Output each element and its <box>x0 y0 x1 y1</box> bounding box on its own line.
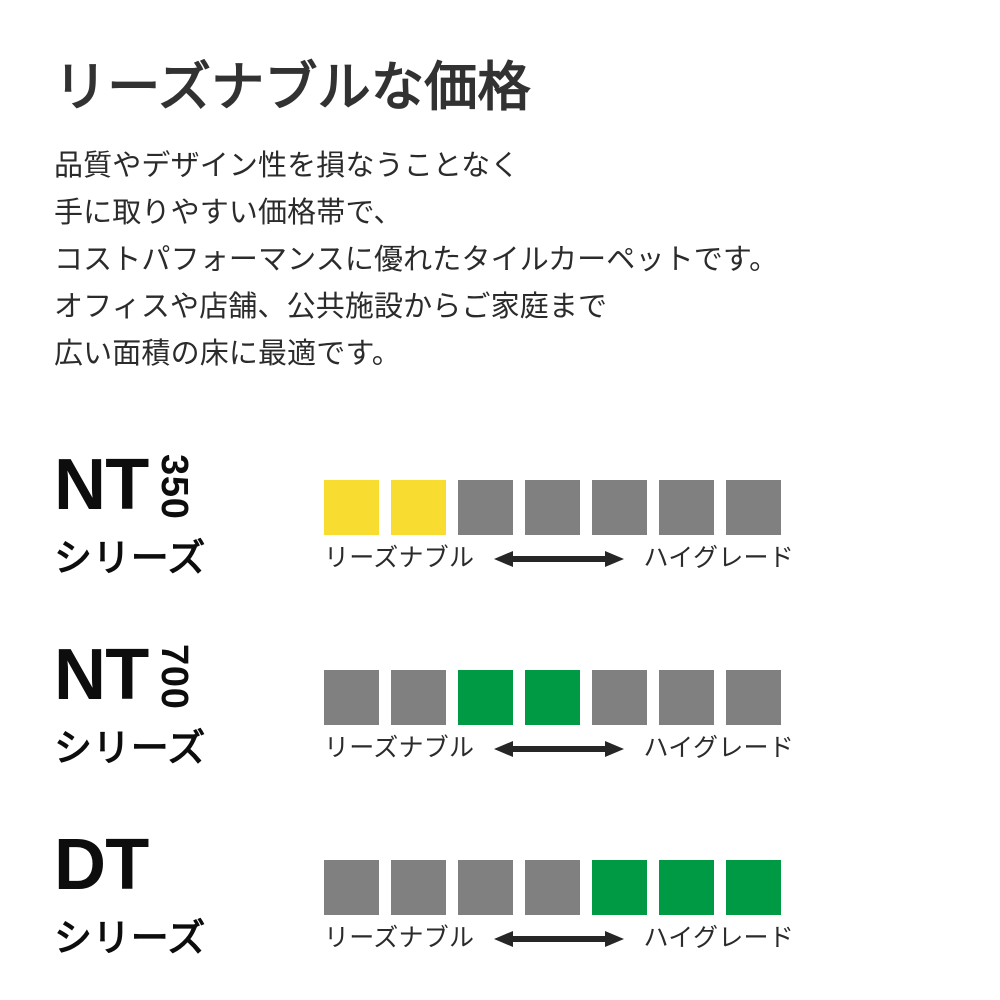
swatch <box>726 670 781 725</box>
scale-low-label: リーズナブル <box>324 926 474 951</box>
description-line: 品質やデザイン性を損なうことなく <box>54 143 954 190</box>
scale-high-label: ハイグレード <box>643 546 794 571</box>
swatch <box>324 670 379 725</box>
double-headed-horizontal-arrow-icon <box>474 549 643 569</box>
series-suffix: シリーズ <box>54 920 304 958</box>
swatch-strip <box>324 670 944 725</box>
description-line: 手に取りやすい価格帯で、 <box>54 190 954 237</box>
swatch <box>458 480 513 535</box>
series-row: NT 700 シリーズ リーズナブル <box>0 642 1000 832</box>
scale-legend: リーズナブル ハイグレード <box>324 546 794 571</box>
series-label-nt700: NT 700 シリーズ <box>54 642 304 792</box>
series-grade-list: NT 350 シリーズ リーズナブル <box>0 452 1000 992</box>
series-suffix: シリーズ <box>54 540 304 578</box>
swatch <box>324 480 379 535</box>
scale-legend: リーズナブル ハイグレード <box>324 736 794 761</box>
series-label-nt350: NT 350 シリーズ <box>54 452 304 602</box>
grade-scale-nt350: リーズナブル ハイグレード <box>324 480 944 571</box>
grade-scale-dt: リーズナブル ハイグレード <box>324 860 944 951</box>
swatch <box>592 670 647 725</box>
swatch <box>659 480 714 535</box>
swatch <box>592 480 647 535</box>
double-headed-horizontal-arrow-icon <box>474 739 643 759</box>
scale-low-label: リーズナブル <box>324 546 474 571</box>
series-suffix: シリーズ <box>54 730 304 768</box>
grade-scale-nt700: リーズナブル ハイグレード <box>324 670 944 761</box>
double-headed-horizontal-arrow-icon <box>474 929 643 949</box>
swatch <box>525 860 580 915</box>
swatch <box>391 670 446 725</box>
swatch <box>391 480 446 535</box>
swatch <box>391 860 446 915</box>
scale-low-label: リーズナブル <box>324 736 474 761</box>
series-row: DT シリーズ リーズナブル <box>0 832 1000 992</box>
series-code: NT 350 <box>54 452 304 524</box>
description-line: オフィスや店舗、公共施設からご家庭まで <box>54 284 954 331</box>
description-line: 広い面積の床に最適です。 <box>54 331 954 378</box>
scale-high-label: ハイグレード <box>643 736 794 761</box>
scale-high-label: ハイグレード <box>643 926 794 951</box>
series-code: DT <box>54 832 304 904</box>
series-code-letters: DT <box>54 832 149 898</box>
scale-legend: リーズナブル ハイグレード <box>324 926 794 951</box>
swatch <box>324 860 379 915</box>
swatch <box>659 670 714 725</box>
swatch-strip <box>324 860 944 915</box>
swatch <box>525 480 580 535</box>
swatch-strip <box>324 480 944 535</box>
description-text: 品質やデザイン性を損なうことなく 手に取りやすい価格帯で、 コストパフォーマンス… <box>54 143 954 378</box>
swatch <box>525 670 580 725</box>
page-root: リーズナブルな価格 品質やデザイン性を損なうことなく 手に取りやすい価格帯で、 … <box>0 0 1000 1000</box>
swatch <box>659 860 714 915</box>
series-label-dt: DT シリーズ <box>54 832 304 982</box>
intro-section: リーズナブルな価格 品質やデザイン性を損なうことなく 手に取りやすい価格帯で、 … <box>54 58 954 378</box>
swatch <box>458 860 513 915</box>
swatch <box>458 670 513 725</box>
page-title: リーズナブルな価格 <box>54 58 954 117</box>
swatch <box>726 480 781 535</box>
swatch <box>726 860 781 915</box>
series-code: NT 700 <box>54 642 304 714</box>
series-row: NT 350 シリーズ リーズナブル <box>0 452 1000 642</box>
series-code-letters: NT <box>54 452 149 518</box>
swatch <box>592 860 647 915</box>
series-code-letters: NT <box>54 642 149 708</box>
description-line: コストパフォーマンスに優れたタイルカーペットです。 <box>54 237 954 284</box>
